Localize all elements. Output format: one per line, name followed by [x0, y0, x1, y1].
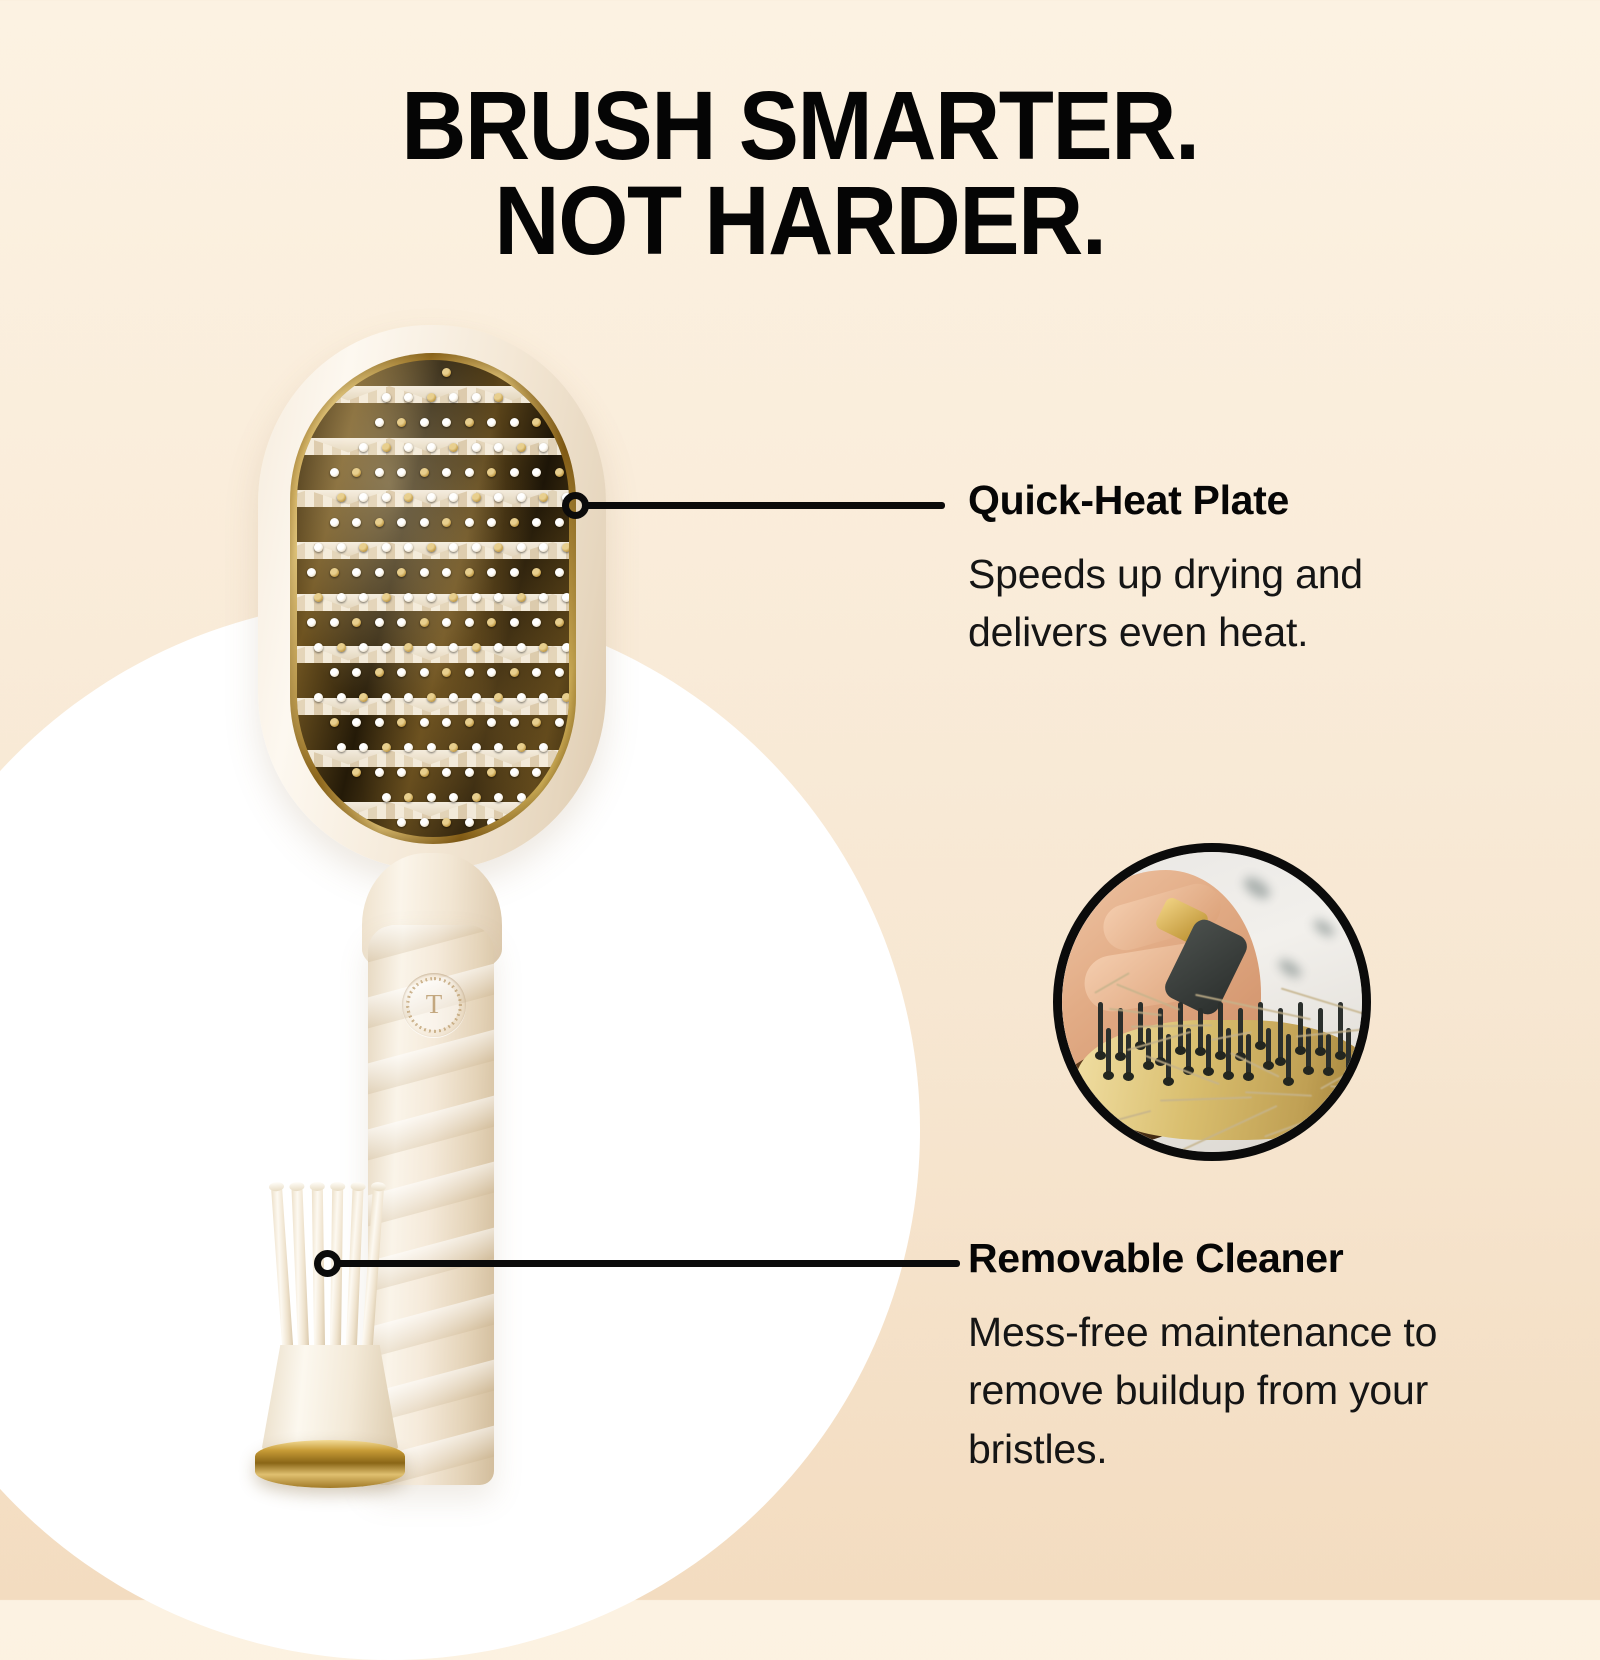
handle-twist-ridge — [368, 925, 494, 971]
bristle-tip — [330, 568, 339, 577]
photo-brush-pin — [1146, 1028, 1151, 1066]
bristle-tip — [539, 493, 548, 502]
bristle-tip — [510, 768, 519, 777]
bristle-tip — [472, 493, 481, 502]
bristle-tip — [420, 618, 429, 627]
bristle-tip — [427, 393, 436, 402]
bristle-tip — [517, 493, 526, 502]
bristle-tip — [397, 668, 406, 677]
bristle-tip — [427, 693, 436, 702]
bristle-tip — [330, 468, 339, 477]
bristle-tip — [465, 468, 474, 477]
bristle-tip — [420, 768, 429, 777]
bristle-tip — [307, 618, 316, 627]
bristle-tip — [494, 393, 503, 402]
bristle-tip — [420, 468, 429, 477]
bristle-tip — [375, 568, 384, 577]
bristle-tip — [449, 793, 458, 802]
bristle-tip — [487, 518, 496, 527]
bristle-tip — [404, 543, 413, 552]
bristle-tip — [532, 518, 541, 527]
bristle-tip — [352, 468, 361, 477]
bristle-tip — [465, 568, 474, 577]
bristle-tip — [449, 543, 458, 552]
callout-body-1: Speeds up drying and delivers even heat. — [968, 545, 1488, 661]
brush-head-gold-frame — [290, 353, 576, 844]
bristle-tip — [532, 618, 541, 627]
bristle-tip — [465, 518, 474, 527]
bristle-tip — [487, 768, 496, 777]
leader-line-1 — [585, 502, 945, 509]
bristle-tip — [472, 593, 481, 602]
bristle-tip — [555, 618, 564, 627]
bristle-tip — [555, 468, 564, 477]
bristle-tip — [352, 618, 361, 627]
bristle-tip — [382, 443, 391, 452]
bristle-tip — [382, 593, 391, 602]
bristle-tip — [404, 393, 413, 402]
callout-title-2: Removable Cleaner — [968, 1236, 1488, 1281]
bristle-tip — [494, 793, 503, 802]
bristle-tip — [337, 493, 346, 502]
bristle-tip — [510, 718, 519, 727]
bristle-tip — [539, 543, 548, 552]
headline-line-2: NOT HARDER. — [56, 173, 1544, 268]
bristle-tip — [337, 593, 346, 602]
bristle-tip — [382, 543, 391, 552]
handle-twist-ridge — [368, 1087, 494, 1169]
photo-brush-pin — [1218, 1002, 1223, 1056]
bristle-tip — [404, 593, 413, 602]
bristle-tip — [359, 743, 368, 752]
bristle-tip — [397, 768, 406, 777]
leader-line-2 — [337, 1260, 960, 1267]
t-monogram-logo: T — [402, 973, 466, 1037]
callout-body-2: Mess-free maintenance to remove buildup … — [968, 1303, 1488, 1478]
bristle-tip — [472, 643, 481, 652]
bristle-tip — [494, 543, 503, 552]
bristle-tip — [352, 668, 361, 677]
bristle-tip — [555, 718, 564, 727]
bristle-tip — [472, 443, 481, 452]
photo-brush-pin — [1298, 1002, 1303, 1051]
bristle-tip — [352, 718, 361, 727]
bristle-tip — [562, 693, 570, 702]
bristle-tip — [382, 743, 391, 752]
bristle-tip — [404, 743, 413, 752]
photo-brush-pin — [1106, 1028, 1111, 1076]
callout-title-1: Quick-Heat Plate — [968, 478, 1488, 523]
bristle-tip — [314, 543, 323, 552]
bristle-tip — [517, 543, 526, 552]
bristle-tip — [465, 818, 474, 827]
bristle-tip — [487, 568, 496, 577]
photo-brush-pin — [1326, 1034, 1331, 1072]
bristle-tip — [427, 443, 436, 452]
bristle-tip — [330, 668, 339, 677]
bristle-tip — [397, 718, 406, 727]
bristle-tip — [494, 643, 503, 652]
bristle-tip — [314, 643, 323, 652]
cleaner-prong — [345, 1185, 363, 1360]
bristle-tip — [375, 418, 384, 427]
bristle-tip — [442, 368, 451, 377]
photo-brush-pin — [1318, 1008, 1323, 1052]
bristle-tip — [427, 593, 436, 602]
bristle-tip — [359, 443, 368, 452]
bristle-tip — [532, 468, 541, 477]
bristle-tip — [494, 693, 503, 702]
bristle-tip — [397, 468, 406, 477]
bristle-tip — [359, 493, 368, 502]
bristle-tip — [442, 568, 451, 577]
inset-photo-image — [1062, 852, 1362, 1152]
bristle-tip — [465, 668, 474, 677]
bristle-tip — [465, 418, 474, 427]
bristle-tip — [449, 693, 458, 702]
bristle-tip — [382, 393, 391, 402]
bristle-tip — [510, 468, 519, 477]
photo-brush-pin — [1246, 1034, 1251, 1077]
bristle-tip — [397, 518, 406, 527]
photo-brush-pin — [1206, 1034, 1211, 1072]
bristle-tip — [487, 668, 496, 677]
brush-head-shell — [258, 325, 606, 870]
bristle-tip — [442, 618, 451, 627]
bristle-tip — [442, 668, 451, 677]
bristle-tip — [532, 718, 541, 727]
bristle-tip — [307, 568, 316, 577]
bristle-tip — [352, 768, 361, 777]
bristle-tip — [517, 593, 526, 602]
photo-brush-pin — [1338, 1002, 1343, 1056]
cleaner-prong — [361, 1185, 384, 1360]
bristle-tip — [404, 443, 413, 452]
bristle-tip — [420, 668, 429, 677]
photo-brush-pin — [1098, 1002, 1103, 1056]
bristle-tip — [487, 718, 496, 727]
bristle-tip — [472, 793, 481, 802]
bristle-tip — [442, 718, 451, 727]
photo-brush-pin — [1278, 1008, 1283, 1062]
bristle-tip — [404, 693, 413, 702]
bristle-tip — [562, 643, 570, 652]
bristle-tip — [427, 643, 436, 652]
bristle-tip — [449, 593, 458, 602]
bristle-tip — [510, 418, 519, 427]
bristle-tip — [449, 493, 458, 502]
bristle-tip — [420, 718, 429, 727]
bristle-tip — [465, 718, 474, 727]
bristle-tip — [442, 418, 451, 427]
photo-brush-pin — [1198, 1008, 1203, 1052]
brush-cleaner-photo-inset — [1053, 843, 1371, 1161]
headline-line-1: BRUSH SMARTER. — [56, 78, 1544, 173]
bristle-tip — [330, 618, 339, 627]
bristle-tip — [420, 818, 429, 827]
cleaner-prong — [291, 1185, 309, 1360]
bristle-tip — [494, 493, 503, 502]
bristle-tip — [442, 768, 451, 777]
bristle-tip — [337, 543, 346, 552]
bristle-tip — [382, 793, 391, 802]
photo-brush-pin — [1346, 1028, 1351, 1076]
bristle-tip — [442, 468, 451, 477]
bristle-tip — [539, 743, 548, 752]
bristle-tip — [359, 543, 368, 552]
bristle-tip — [532, 768, 541, 777]
bristle-tip — [427, 493, 436, 502]
bristle-tip — [472, 543, 481, 552]
bristle-tip — [539, 443, 548, 452]
bristle-tip — [449, 443, 458, 452]
bristle-tip — [382, 493, 391, 502]
bristle-tip — [420, 518, 429, 527]
bristle-tip — [375, 668, 384, 677]
cleaner-gold-ring — [255, 1440, 405, 1488]
photo-brush-pin — [1186, 1028, 1191, 1071]
bristle-tip — [517, 443, 526, 452]
bristle-tip — [487, 618, 496, 627]
bristle-tip — [382, 643, 391, 652]
removable-cleaner-accessory — [255, 1185, 405, 1485]
bristle-tip — [517, 693, 526, 702]
bristle-tip — [539, 693, 548, 702]
bristle-tip — [352, 568, 361, 577]
bristle-tip — [472, 743, 481, 752]
bristle-tip — [517, 643, 526, 652]
bristle-tip — [532, 568, 541, 577]
photo-brush-pin — [1286, 1034, 1291, 1082]
bristle-tip — [427, 793, 436, 802]
quick-heat-plate-surface — [297, 360, 569, 837]
bristle-tip — [375, 718, 384, 727]
infographic-canvas: BRUSH SMARTER. NOT HARDER. T Quic — [0, 0, 1600, 1600]
bristle-tip — [510, 618, 519, 627]
bristle-tip — [427, 743, 436, 752]
bristle-tip — [449, 743, 458, 752]
bristle-tip — [449, 393, 458, 402]
bristle-tip — [449, 643, 458, 652]
bristle-tip — [465, 618, 474, 627]
photo-brush-pin — [1166, 1034, 1171, 1082]
bristle-tip — [494, 443, 503, 452]
bristle-tip — [532, 418, 541, 427]
cleaner-prong — [271, 1185, 294, 1360]
bristle-tip — [420, 568, 429, 577]
photo-brush-pin — [1126, 1034, 1131, 1077]
bristle-tip — [510, 568, 519, 577]
bristle-tip — [397, 418, 406, 427]
photo-brush-pin — [1266, 1028, 1271, 1066]
cleaner-base — [261, 1345, 399, 1453]
photo-brush-pin — [1138, 1002, 1143, 1046]
bristle-tip — [420, 418, 429, 427]
bristle-tip — [487, 818, 496, 827]
bristle-tip — [442, 818, 451, 827]
bristle-tip — [397, 618, 406, 627]
bristle-tip — [539, 593, 548, 602]
bristle-tip — [517, 793, 526, 802]
bristle-tip — [562, 593, 570, 602]
bristle-tip — [555, 668, 564, 677]
bristle-tip — [375, 618, 384, 627]
bristle-tip — [510, 518, 519, 527]
bristle-tip — [510, 668, 519, 677]
bristle-tip — [397, 818, 406, 827]
bristle-tip — [337, 693, 346, 702]
brush-bristle-grid — [297, 360, 569, 837]
bristle-tip — [375, 768, 384, 777]
bristle-tip — [382, 693, 391, 702]
bristle-tip — [427, 543, 436, 552]
bristle-tip — [517, 743, 526, 752]
bristle-tip — [397, 568, 406, 577]
page-title: BRUSH SMARTER. NOT HARDER. — [56, 78, 1544, 268]
bristle-tip — [494, 743, 503, 752]
bristle-tip — [330, 718, 339, 727]
bristle-tip — [404, 493, 413, 502]
bristle-tip — [314, 593, 323, 602]
bristle-tip — [352, 518, 361, 527]
photo-brush-pin — [1118, 1008, 1123, 1057]
bristle-tip — [375, 518, 384, 527]
bristle-tip — [330, 518, 339, 527]
bristle-tip — [359, 643, 368, 652]
bristle-tip — [337, 743, 346, 752]
bristle-tip — [555, 568, 564, 577]
bristle-tip — [562, 543, 570, 552]
bristle-tip — [532, 668, 541, 677]
callout-quick-heat-plate: Quick-Heat Plate Speeds up drying and de… — [968, 478, 1488, 662]
bristle-tip — [555, 518, 564, 527]
bristle-tip — [337, 643, 346, 652]
bristle-tip — [404, 793, 413, 802]
logo-letter: T — [426, 989, 443, 1020]
bristle-tip — [359, 593, 368, 602]
bristle-tip — [487, 418, 496, 427]
bristle-tip — [442, 518, 451, 527]
bristle-tip — [359, 693, 368, 702]
bristle-tip — [472, 393, 481, 402]
bristle-tip — [404, 643, 413, 652]
bristle-tip — [472, 693, 481, 702]
bristle-tip — [539, 643, 548, 652]
bristle-tip — [487, 468, 496, 477]
bristle-tip — [314, 693, 323, 702]
bristle-tip — [465, 768, 474, 777]
callout-removable-cleaner: Removable Cleaner Mess-free maintenance … — [968, 1236, 1488, 1478]
bristle-tip — [375, 468, 384, 477]
bristle-tip — [494, 593, 503, 602]
